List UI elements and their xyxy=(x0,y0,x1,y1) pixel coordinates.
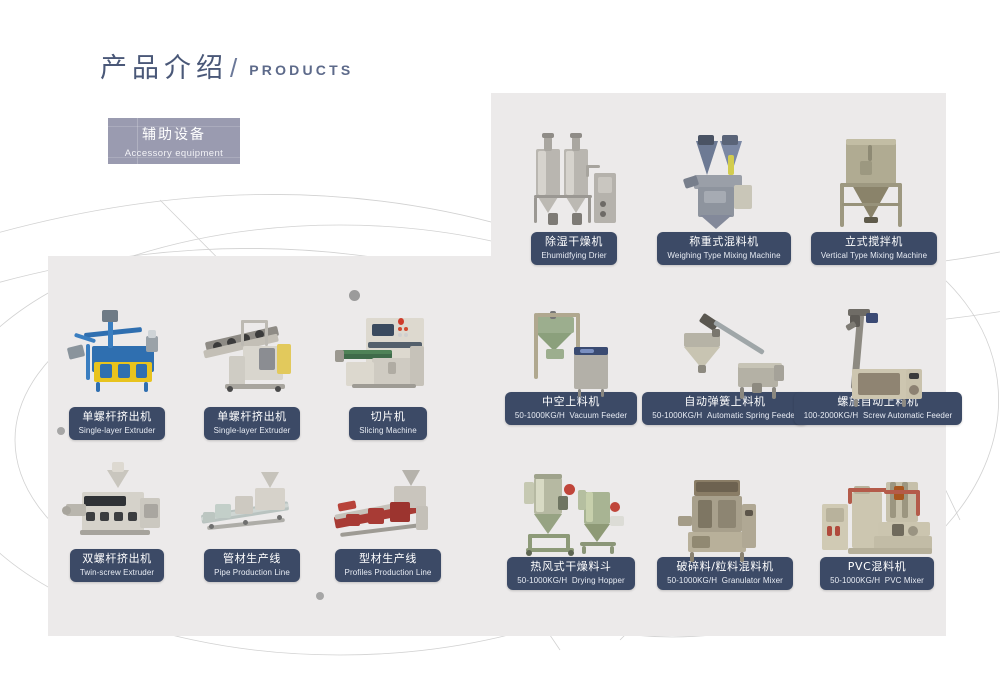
product-name-en: Ehumidfying Drier xyxy=(541,251,606,260)
page-title-separator: / xyxy=(230,53,237,84)
product-spec: 50-1000KG/H xyxy=(652,411,702,420)
product-name-en: 50-1000KG/H Vacuum Feeder xyxy=(515,411,627,420)
category-badge-label-en: Accessory equipment xyxy=(125,148,223,159)
product-image-profiles-production-line xyxy=(332,452,444,549)
page-title-cn: 产品介绍 xyxy=(100,46,228,85)
product-spec: 100-2000KG/H xyxy=(804,411,859,420)
product-image-vertical-type-mixing-machine xyxy=(818,125,930,232)
product-card-ehumidfying-drier[interactable]: 除湿干燥机 Ehumidfying Drier xyxy=(518,125,630,265)
product-image-pvc-mixer xyxy=(808,460,946,557)
product-image-ehumidfying-drier xyxy=(518,125,630,232)
product-name-en: 50-1000KG/H Drying Hopper xyxy=(517,576,625,585)
product-card-vacuum-feeder[interactable]: 中空上料机 50-1000KG/H Vacuum Feeder xyxy=(512,295,630,425)
product-card-drying-hopper[interactable]: 热风式干燥料斗 50-1000KG/H Drying Hopper xyxy=(512,460,630,590)
product-image-single-layer-extruder-1 xyxy=(62,300,172,407)
product-name-en: Single-layer Extruder xyxy=(79,426,156,435)
product-label: 型材生产线 Profiles Production Line xyxy=(335,549,442,582)
product-name-cn: 型材生产线 xyxy=(345,553,432,566)
product-card-slicing-machine[interactable]: 切片机 Slicing Machine xyxy=(332,300,444,440)
product-image-slicing-machine xyxy=(332,300,444,407)
product-name-en-text: PVC Mixer xyxy=(885,576,924,585)
product-card-pvc-mixer[interactable]: PVC混料机 50-1000KG/H PVC Mixer xyxy=(808,460,946,590)
product-card-vertical-type-mixing-machine[interactable]: 立式搅拌机 Vertical Type Mixing Machine xyxy=(818,125,930,265)
product-card-granulator-mixer[interactable]: 破碎料/粒料混料机 50-1000KG/H Granulator Mixer xyxy=(662,460,788,590)
page-title-en: PRODUCTS xyxy=(249,62,353,78)
product-name-cn: 除湿干燥机 xyxy=(541,236,606,249)
product-name-cn: 热风式干燥料斗 xyxy=(517,561,625,574)
product-card-automatic-spring-feeder[interactable]: 自动弹簧上料机 50-1000KG/H Automatic Spring Fee… xyxy=(660,295,790,425)
product-name-en: 50-1000KG/H Automatic Spring Feeder xyxy=(652,411,797,420)
connector-node xyxy=(316,592,324,600)
product-name-en: 100-2000KG/H Screw Automatic Feeder xyxy=(804,411,953,420)
product-name-en: 50-1000KG/H PVC Mixer xyxy=(830,576,924,585)
product-label: 切片机 Slicing Machine xyxy=(349,407,427,440)
product-name-en-text: Granulator Mixer xyxy=(722,576,783,585)
product-card-single-layer-extruder-2[interactable]: 单螺杆挤出机 Single-layer Extruder xyxy=(197,300,307,440)
product-card-profiles-production-line[interactable]: 型材生产线 Profiles Production Line xyxy=(332,452,444,582)
product-label: 单螺杆挤出机 Single-layer Extruder xyxy=(204,407,301,440)
product-name-cn: 中空上料机 xyxy=(515,396,627,409)
product-label: 双螺杆挤出机 Twin-screw Extruder xyxy=(70,549,164,582)
product-label: 中空上料机 50-1000KG/H Vacuum Feeder xyxy=(505,392,637,425)
product-spec: 50-1000KG/H xyxy=(515,411,565,420)
category-badge-label-cn: 辅助设备 xyxy=(142,124,206,144)
product-name-en: 50-1000KG/H Granulator Mixer xyxy=(667,576,783,585)
product-name-en: Vertical Type Mixing Machine xyxy=(821,251,927,260)
product-label: 立式搅拌机 Vertical Type Mixing Machine xyxy=(811,232,937,265)
product-label: 自动弹簧上料机 50-1000KG/H Automatic Spring Fee… xyxy=(642,392,807,425)
product-name-cn: 单螺杆挤出机 xyxy=(214,411,291,424)
product-name-cn: 管材生产线 xyxy=(214,553,290,566)
product-label: 热风式干燥料斗 50-1000KG/H Drying Hopper xyxy=(507,557,635,590)
product-spec: 50-1000KG/H xyxy=(830,576,880,585)
product-image-automatic-spring-feeder xyxy=(660,295,790,392)
product-name-en-text: Drying Hopper xyxy=(572,576,625,585)
product-label: 称重式混料机 Weighing Type Mixing Machine xyxy=(657,232,790,265)
page-title: 产品介绍 / PRODUCTS xyxy=(100,46,353,85)
product-image-screw-automatic-feeder xyxy=(810,295,946,392)
product-card-single-layer-extruder-1[interactable]: 单螺杆挤出机 Single-layer Extruder xyxy=(62,300,172,440)
product-name-en: Twin-screw Extruder xyxy=(80,568,154,577)
product-name-cn: 双螺杆挤出机 xyxy=(80,553,154,566)
product-label: PVC混料机 50-1000KG/H PVC Mixer xyxy=(820,557,934,590)
product-name-cn: 自动弹簧上料机 xyxy=(652,396,797,409)
product-label: 管材生产线 Pipe Production Line xyxy=(204,549,300,582)
product-name-cn: 单螺杆挤出机 xyxy=(79,411,156,424)
product-label: 破碎料/粒料混料机 50-1000KG/H Granulator Mixer xyxy=(657,557,793,590)
product-image-single-layer-extruder-2 xyxy=(197,300,307,407)
product-card-screw-automatic-feeder[interactable]: 螺旋自动上料机 100-2000KG/H Screw Automatic Fee… xyxy=(810,295,946,425)
product-name-en-text: Screw Automatic Feeder xyxy=(863,411,952,420)
product-name-en-text: Vacuum Feeder xyxy=(570,411,628,420)
product-name-en: Single-layer Extruder xyxy=(214,426,291,435)
product-name-en: Pipe Production Line xyxy=(214,568,290,577)
product-card-twin-screw-extruder[interactable]: 双螺杆挤出机 Twin-screw Extruder xyxy=(62,452,172,582)
product-spec: 50-1000KG/H xyxy=(667,576,717,585)
product-image-vacuum-feeder xyxy=(512,295,630,392)
product-image-pipe-production-line xyxy=(197,452,307,549)
product-spec: 50-1000KG/H xyxy=(517,576,567,585)
product-name-en: Slicing Machine xyxy=(359,426,417,435)
product-name-cn: PVC混料机 xyxy=(830,561,924,574)
product-image-weighing-type-mixing-machine xyxy=(668,125,780,232)
product-name-cn: 立式搅拌机 xyxy=(821,236,927,249)
product-name-en: Weighing Type Mixing Machine xyxy=(667,251,780,260)
product-image-drying-hopper xyxy=(512,460,630,557)
product-name-en-text: Automatic Spring Feeder xyxy=(707,411,798,420)
product-label: 单螺杆挤出机 Single-layer Extruder xyxy=(69,407,166,440)
product-catalog-page: 产品介绍 / PRODUCTS 辅助设备 Accessory equipment xyxy=(0,0,1000,678)
product-label: 除湿干燥机 Ehumidfying Drier xyxy=(531,232,616,265)
product-image-granulator-mixer xyxy=(662,460,788,557)
product-name-cn: 切片机 xyxy=(359,411,417,424)
product-card-weighing-type-mixing-machine[interactable]: 称重式混料机 Weighing Type Mixing Machine xyxy=(668,125,780,265)
product-name-en: Profiles Production Line xyxy=(345,568,432,577)
category-badge-accessory-equipment[interactable]: 辅助设备 Accessory equipment xyxy=(108,118,240,164)
product-image-twin-screw-extruder xyxy=(62,452,172,549)
product-card-pipe-production-line[interactable]: 管材生产线 Pipe Production Line xyxy=(197,452,307,582)
product-name-cn: 称重式混料机 xyxy=(667,236,780,249)
product-name-cn: 破碎料/粒料混料机 xyxy=(667,561,783,574)
